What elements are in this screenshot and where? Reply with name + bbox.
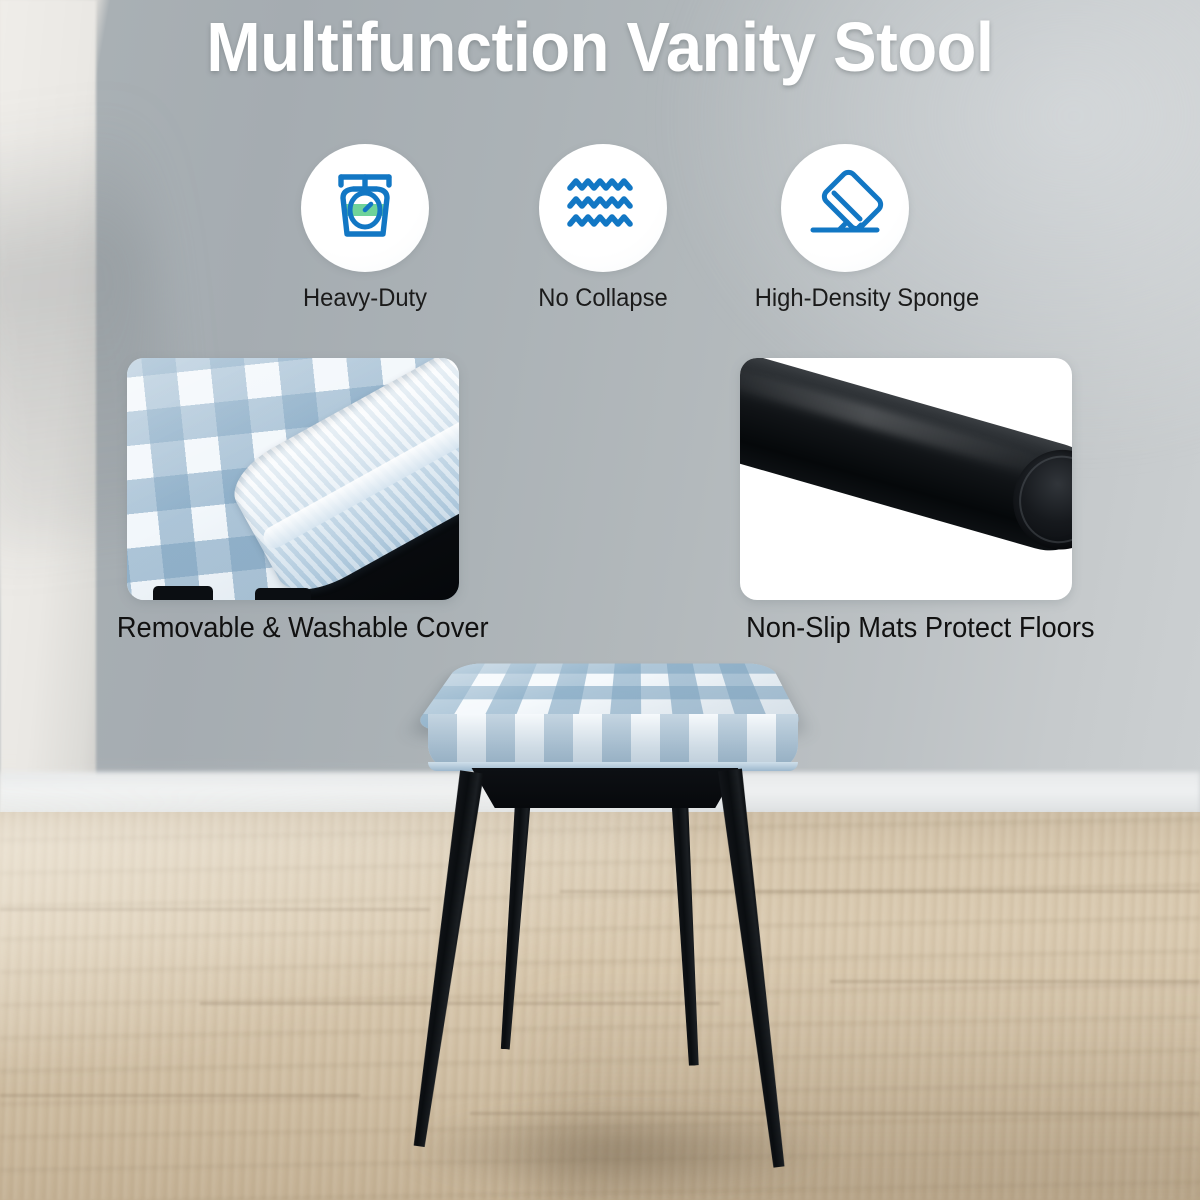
feature-high-density-sponge[interactable]: High-Density Sponge <box>750 144 940 313</box>
vanity-stool-product[interactable] <box>400 630 820 1175</box>
feature-label: Heavy-Duty <box>275 284 456 313</box>
detail-panel-leg[interactable] <box>740 358 1072 600</box>
feature-label: No Collapse <box>513 284 694 313</box>
feature-label: High-Density Sponge <box>755 284 936 313</box>
black-stool-leg-photo <box>740 358 1072 563</box>
leg-sheen <box>740 358 1045 477</box>
stool-seat <box>410 630 810 790</box>
stool-foot-left <box>153 586 213 600</box>
eraser-sponge-icon <box>803 164 887 253</box>
feature-heavy-duty[interactable]: Heavy-Duty <box>270 144 460 313</box>
stool-frame-apron <box>460 768 750 808</box>
product-marketing-image: Multifunction Vanity Stool <box>0 0 1200 1200</box>
stool-leg-front-right <box>718 769 791 1169</box>
stool-leg-front-left <box>408 770 484 1148</box>
kitchen-scale-icon <box>323 164 407 253</box>
wave-springs-icon <box>561 164 645 253</box>
feature-icon-circle <box>539 144 667 272</box>
stool-foot-right <box>255 588 311 600</box>
detail-panel-cover[interactable] <box>127 358 459 600</box>
feature-icon-circle <box>301 144 429 272</box>
page-title: Multifunction Vanity Stool <box>42 12 1158 82</box>
feature-no-collapse[interactable]: No Collapse <box>508 144 698 313</box>
feature-badge-row: Heavy-Duty No Collapse <box>262 144 962 329</box>
feature-icon-circle <box>781 144 909 272</box>
